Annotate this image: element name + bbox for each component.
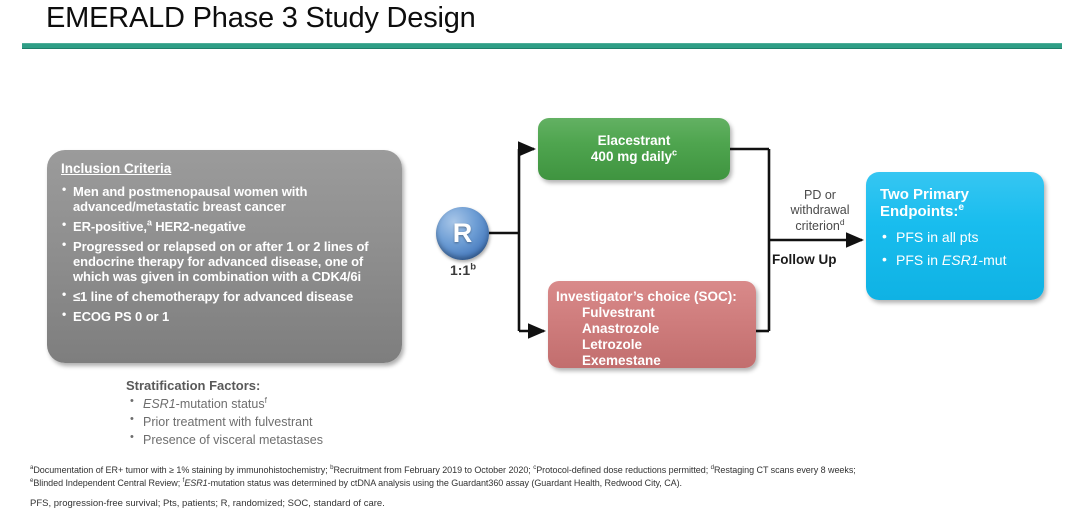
randomization-letter: R [453,220,473,247]
experimental-arm-box: Elacestrant 400 mg dailyc [538,118,730,180]
endpoint-item: PFS in all pts [880,229,1036,246]
criterion-line-2: withdrawal [790,203,849,217]
inclusion-item: Progressed or relapsed on or after 1 or … [61,239,389,284]
control-arm-drug: Exemestane [556,353,750,369]
inclusion-criteria-box: Inclusion Criteria Men and postmenopausa… [47,150,402,363]
control-arm-heading: Investigator’s choice (SOC): [556,289,750,305]
randomization-ratio-label: 1:1b [434,262,492,278]
control-arm-drug: Anastrozole [556,321,750,337]
abbreviations-line: PFS, progression-free survival; Pts, pat… [30,498,385,509]
stratification-heading: Stratification Factors: [126,378,426,393]
inclusion-item: ≤1 line of chemotherapy for advanced dis… [61,289,389,304]
experimental-arm-drug: Elacestrant [598,133,671,148]
criterion-line-1: PD or [804,188,836,202]
randomization-node: R [436,207,489,260]
inclusion-item: ECOG PS 0 or 1 [61,309,389,324]
inclusion-criteria-heading: Inclusion Criteria [61,162,389,177]
transition-criterion-label: PD or withdrawal criteriond [764,188,876,234]
inclusion-item: ER-positive,a HER2-negative [61,219,389,234]
inclusion-item: Men and postmenopausal women with advanc… [61,184,389,214]
control-arm-drug: Fulvestrant [556,305,750,321]
footnote-line: aDocumentation of ER+ tumor with ≥ 1% st… [30,464,1065,477]
stratification-factors-block: Stratification Factors: ESR1-mutation st… [126,378,426,449]
experimental-arm-label: Elacestrant 400 mg dailyc [591,133,677,165]
stratification-item: Presence of visceral metastases [126,431,426,449]
stratification-item: Prior treatment with fulvestrant [126,413,426,431]
stratification-item: ESR1-mutation statusf [126,395,426,413]
control-arm-box: Investigator’s choice (SOC): Fulvestrant… [548,281,756,368]
endpoint-item: PFS in ESR1-mut [880,252,1036,269]
footnote-line: eBlinded Independent Central Review; fES… [30,477,1065,490]
control-arm-drug: Letrozole [556,337,750,353]
study-design-diagram: Inclusion Criteria Men and postmenopausa… [0,0,1080,521]
primary-endpoints-heading: Two PrimaryEndpoints:e [880,186,1036,221]
footnotes-block: aDocumentation of ER+ tumor with ≥ 1% st… [30,464,1065,490]
primary-endpoints-box: Two PrimaryEndpoints:e PFS in all pts PF… [866,172,1044,300]
followup-label: Follow Up [772,252,837,267]
